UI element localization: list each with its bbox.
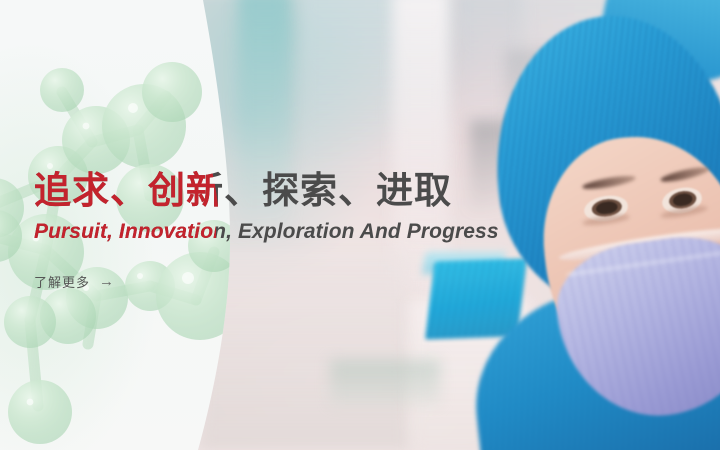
subtitle-english: Pursuit, Innovation, Exploration And Pro… (34, 220, 694, 244)
hero-banner: 追求、创新、探索、进取 追求、创新、探索、进取 Pursuit, Innovat… (0, 0, 720, 450)
learn-more-label: 了解更多 (34, 272, 90, 291)
hero-copy: 追求、创新、探索、进取 追求、创新、探索、进取 Pursuit, Innovat… (34, 170, 694, 292)
arrow-right-icon: → (99, 274, 115, 289)
headline-chinese: 追求、创新、探索、进取 追求、创新、探索、进取 (34, 170, 694, 213)
lab-shelf (330, 360, 440, 405)
learn-more-link[interactable]: 了解更多 → (34, 272, 115, 291)
